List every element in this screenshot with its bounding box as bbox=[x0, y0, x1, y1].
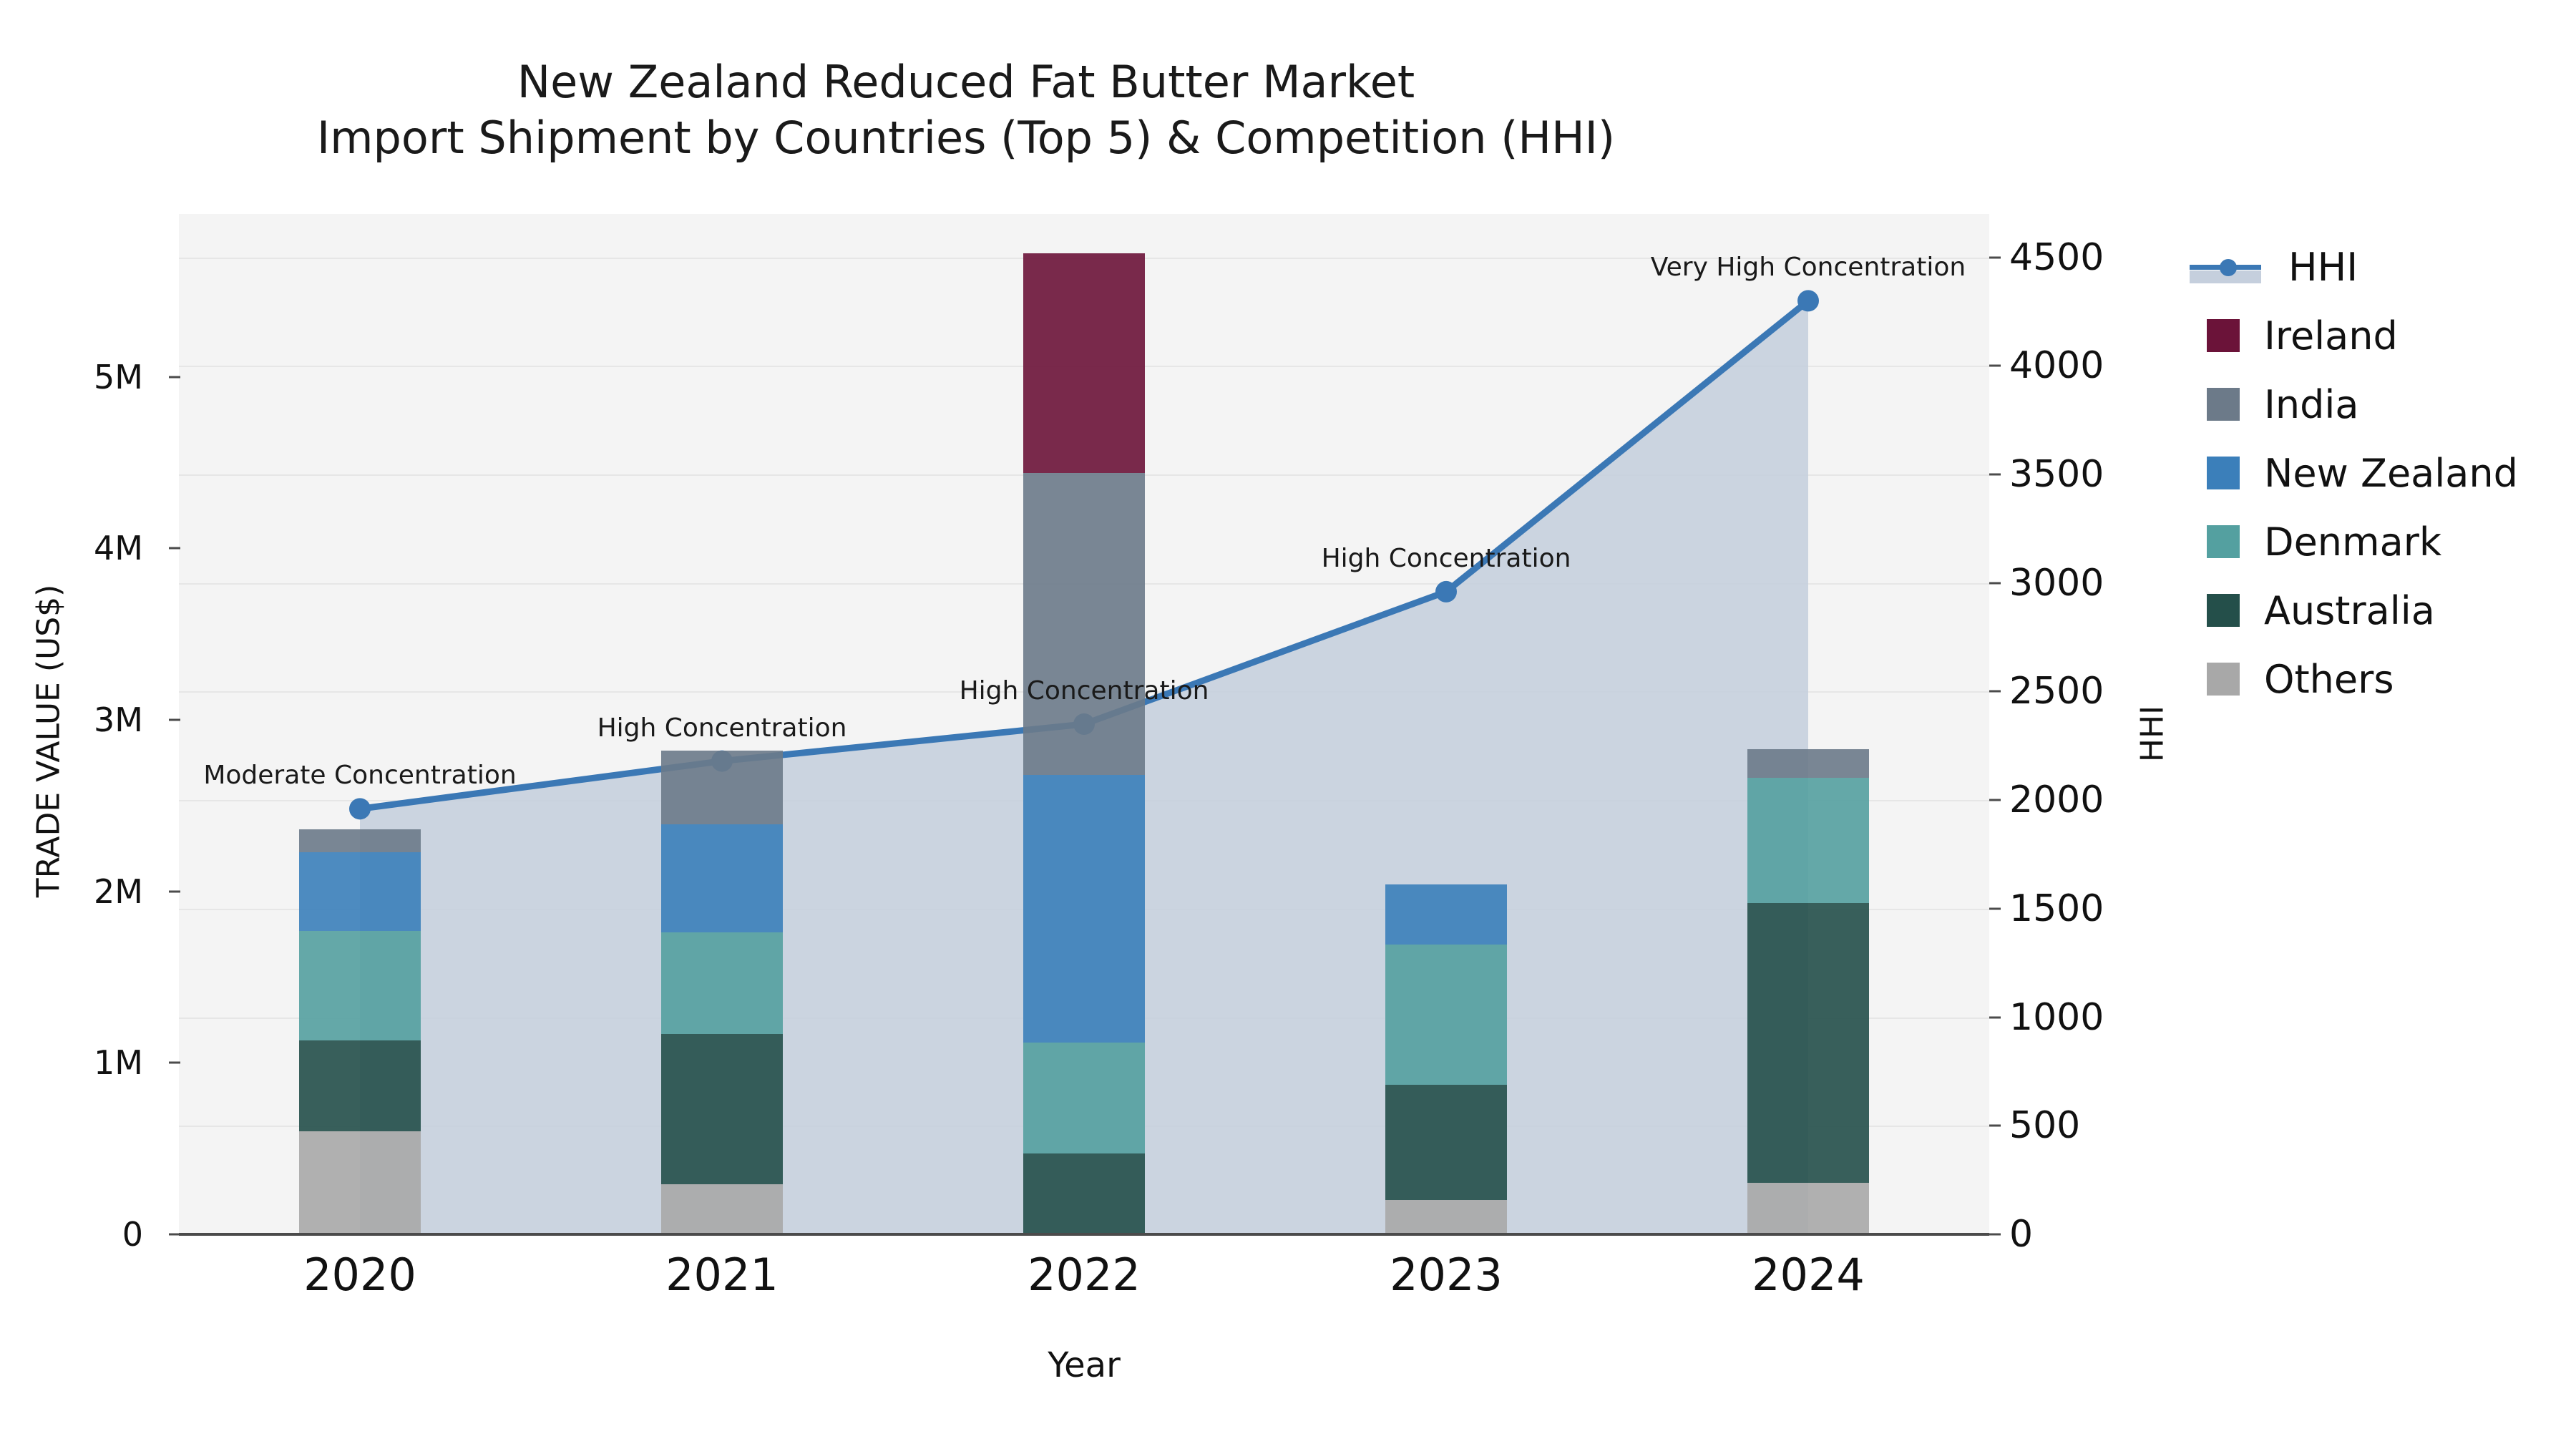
legend-label: Denmark bbox=[2264, 519, 2441, 565]
legend-label: New Zealand bbox=[2264, 451, 2518, 496]
bar-segment[interactable] bbox=[661, 1184, 783, 1234]
y-tick-mark bbox=[169, 890, 180, 892]
bar-segment[interactable] bbox=[1023, 775, 1145, 1043]
y-tick-mark bbox=[169, 547, 180, 550]
y2-tick-label: 1500 bbox=[2009, 887, 2174, 930]
legend-swatch bbox=[2207, 388, 2240, 421]
y-tick-label: 0 bbox=[0, 1215, 162, 1254]
x-tick-label: 2021 bbox=[579, 1249, 865, 1301]
y2-tick-mark bbox=[1989, 1125, 2001, 1127]
legend-swatch bbox=[2207, 457, 2240, 489]
hhi-annotation: Moderate Concentration bbox=[203, 761, 516, 790]
bar-segment[interactable] bbox=[1747, 778, 1869, 903]
bar-segment[interactable] bbox=[1023, 1153, 1145, 1234]
bar-segment[interactable] bbox=[1023, 1043, 1145, 1154]
hhi-point[interactable] bbox=[1797, 290, 1819, 311]
legend-item-denmark[interactable]: Denmark bbox=[2190, 507, 2518, 576]
bar-segment[interactable] bbox=[1385, 1200, 1507, 1234]
hhi-point[interactable] bbox=[349, 798, 371, 819]
y2-tick-mark bbox=[1989, 1234, 2001, 1236]
chart-title: New Zealand Reduced Fat Butter Market Im… bbox=[0, 54, 1932, 166]
bar-segment[interactable] bbox=[299, 1131, 421, 1234]
legend-label: Ireland bbox=[2264, 313, 2398, 358]
bar-segment[interactable] bbox=[1023, 473, 1145, 775]
bar-segment[interactable] bbox=[661, 932, 783, 1033]
legend-item-hhi[interactable]: HHI bbox=[2190, 233, 2518, 301]
y2-tick-mark bbox=[1989, 582, 2001, 584]
x-tick-label: 2022 bbox=[941, 1249, 1227, 1301]
legend-label: Australia bbox=[2264, 588, 2435, 633]
y2-tick-label: 3500 bbox=[2009, 453, 2174, 496]
bar-segment[interactable] bbox=[299, 1040, 421, 1131]
x-tick-label: 2023 bbox=[1303, 1249, 1589, 1301]
bar-segment[interactable] bbox=[1023, 253, 1145, 473]
legend-label: HHI bbox=[2288, 245, 2358, 290]
x-tick-label: 2020 bbox=[217, 1249, 503, 1301]
hhi-annotation: High Concentration bbox=[597, 713, 847, 743]
y2-tick-label: 500 bbox=[2009, 1104, 2174, 1147]
x-axis-line bbox=[179, 1233, 1989, 1236]
chart-root: New Zealand Reduced Fat Butter Market Im… bbox=[0, 0, 2576, 1449]
y-tick-mark bbox=[169, 1234, 180, 1236]
legend-label: India bbox=[2264, 382, 2359, 427]
legend-swatch bbox=[2207, 594, 2240, 627]
bar-segment[interactable] bbox=[1385, 1085, 1507, 1200]
bar-segment[interactable] bbox=[299, 931, 421, 1040]
y2-tick-label: 4000 bbox=[2009, 344, 2174, 387]
y2-tick-label: 4500 bbox=[2009, 236, 2174, 279]
bar-segment[interactable] bbox=[1747, 749, 1869, 779]
legend-label: Others bbox=[2264, 657, 2394, 702]
bar-segment[interactable] bbox=[299, 852, 421, 931]
y2-tick-mark bbox=[1989, 691, 2001, 693]
bar-segment[interactable] bbox=[1747, 903, 1869, 1183]
y2-tick-mark bbox=[1989, 799, 2001, 801]
y2-tick-label: 1000 bbox=[2009, 996, 2174, 1039]
y-axis-title: TRADE VALUE (US$) bbox=[31, 491, 67, 992]
legend-swatch bbox=[2207, 663, 2240, 696]
legend-swatch bbox=[2207, 319, 2240, 352]
bar-segment[interactable] bbox=[299, 829, 421, 852]
y2-tick-mark bbox=[1989, 474, 2001, 476]
y-tick-label: 4M bbox=[0, 529, 162, 567]
y2-tick-mark bbox=[1989, 256, 2001, 258]
y-tick-label: 3M bbox=[0, 701, 162, 739]
y-tick-label: 5M bbox=[0, 358, 162, 396]
chart-title-line-2: Import Shipment by Countries (Top 5) & C… bbox=[0, 110, 1932, 166]
chart-title-line-1: New Zealand Reduced Fat Butter Market bbox=[0, 54, 1932, 110]
hhi-annotation: High Concentration bbox=[1322, 544, 1571, 573]
legend-item-ireland[interactable]: Ireland bbox=[2190, 301, 2518, 370]
y-tick-mark bbox=[169, 1062, 180, 1064]
bar-segment[interactable] bbox=[1747, 1183, 1869, 1234]
y-tick-mark bbox=[169, 719, 180, 721]
hhi-annotation: Very High Concentration bbox=[1651, 253, 1966, 282]
bar-segment[interactable] bbox=[1385, 945, 1507, 1085]
y-tick-label: 1M bbox=[0, 1043, 162, 1082]
hhi-point[interactable] bbox=[1435, 581, 1457, 602]
bar-segment[interactable] bbox=[1385, 884, 1507, 945]
x-tick-label: 2024 bbox=[1665, 1249, 1951, 1301]
x-axis-title: Year bbox=[179, 1345, 1989, 1385]
legend-item-india[interactable]: India bbox=[2190, 370, 2518, 439]
bar-segment[interactable] bbox=[661, 751, 783, 824]
bar-segment[interactable] bbox=[661, 824, 783, 932]
y2-tick-mark bbox=[1989, 907, 2001, 909]
y2-tick-mark bbox=[1989, 365, 2001, 367]
legend-item-others[interactable]: Others bbox=[2190, 645, 2518, 713]
y-tick-mark bbox=[169, 376, 180, 378]
y2-tick-label: 3000 bbox=[2009, 562, 2174, 605]
y-tick-label: 2M bbox=[0, 872, 162, 911]
y2-axis-title: HHI bbox=[2135, 648, 2171, 820]
bar-segment[interactable] bbox=[661, 1034, 783, 1185]
y2-tick-mark bbox=[1989, 1016, 2001, 1018]
legend-line-marker bbox=[2190, 250, 2261, 283]
legend-item-australia[interactable]: Australia bbox=[2190, 576, 2518, 645]
legend-item-new-zealand[interactable]: New Zealand bbox=[2190, 439, 2518, 507]
hhi-annotation: High Concentration bbox=[960, 676, 1209, 706]
y2-tick-label: 0 bbox=[2009, 1213, 2174, 1256]
legend: HHIIrelandIndiaNew ZealandDenmarkAustral… bbox=[2190, 233, 2518, 713]
legend-swatch bbox=[2207, 525, 2240, 558]
